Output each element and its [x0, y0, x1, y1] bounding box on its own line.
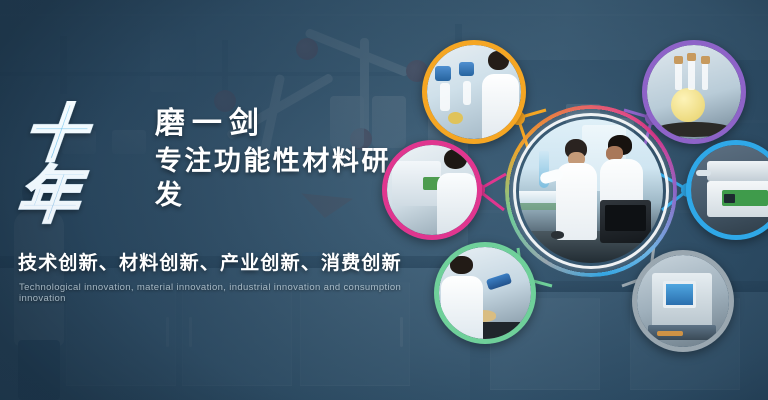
- tagline-chinese: 技术创新、材料创新、产业创新、消费创新: [18, 248, 414, 275]
- headline-text-block: 十年 磨一剑 专注功能性材料研发 技术创新、材料创新、产业创新、消费创新 Tec…: [14, 100, 414, 304]
- brush-headline: 十年: [7, 100, 152, 234]
- headline-row: 十年 磨一剑 专注功能性材料研发: [14, 100, 414, 234]
- headline-stack: 磨一剑 专注功能性材料研发: [155, 100, 414, 213]
- tagline-english: Technological innovation, material innov…: [19, 282, 414, 304]
- circle-cluster: [400, 30, 768, 380]
- node-purple[interactable]: [642, 40, 746, 144]
- node-gray-photo: [637, 255, 729, 347]
- node-green-photo: [439, 247, 531, 339]
- headline-line-2: 专注功能性材料研发: [155, 145, 414, 213]
- hero-banner: 十年 磨一剑 专注功能性材料研发 技术创新、材料创新、产业创新、消费创新 Tec…: [0, 0, 768, 400]
- node-orange-photo: [427, 45, 521, 139]
- node-blue-photo: [691, 145, 768, 235]
- node-pink[interactable]: [382, 140, 482, 240]
- node-gray[interactable]: [632, 250, 734, 352]
- node-purple-photo: [647, 45, 741, 139]
- node-pink-photo: [387, 145, 477, 235]
- headline-line-1: 磨一剑: [155, 106, 414, 141]
- central-photo: [519, 119, 663, 263]
- node-green[interactable]: [434, 242, 536, 344]
- node-blue[interactable]: [686, 140, 768, 240]
- node-orange[interactable]: [422, 40, 526, 144]
